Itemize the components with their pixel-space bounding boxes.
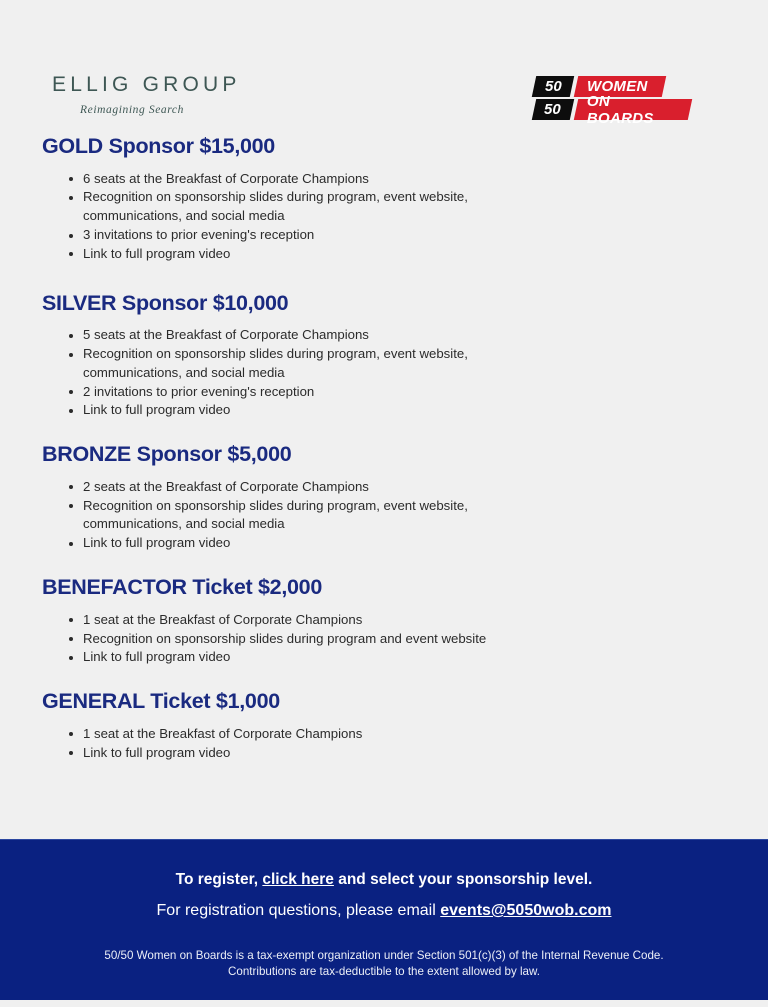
list-item: Recognition on sponsorship slides during… [69, 497, 503, 535]
register-instruction: To register, click here and select your … [60, 870, 708, 890]
wob-badge-50-bottom-label: 50 [544, 101, 561, 118]
tier-silver-heading: SILVER Sponsor $10,000 [42, 292, 728, 316]
tier-gold-benefits: 6 seats at the Breakfast of Corporate Ch… [42, 170, 728, 264]
tier-bronze: BRONZE Sponsor $5,000 2 seats at the Bre… [42, 443, 728, 553]
ellig-group-wordmark: ELLIG GROUP [52, 74, 212, 95]
tier-spacer [42, 673, 728, 690]
ellig-group-tagline: Reimagining Search [52, 104, 212, 116]
wob-label-on-boards-text: ON BOARDS [587, 93, 680, 127]
list-item: Link to full program video [69, 648, 503, 667]
contact-email-link[interactable]: events@5050wob.com [440, 902, 611, 919]
list-item: 1 seat at the Breakfast of Corporate Cha… [69, 611, 503, 630]
tier-benefactor: BENEFACTOR Ticket $2,000 1 seat at the B… [42, 576, 728, 667]
tier-gold: GOLD Sponsor $15,000 6 seats at the Brea… [42, 135, 728, 264]
tier-silver: SILVER Sponsor $10,000 5 seats at the Br… [42, 292, 728, 421]
list-item: 1 seat at the Breakfast of Corporate Cha… [69, 725, 503, 744]
list-item: 2 seats at the Breakfast of Corporate Ch… [69, 478, 503, 497]
tier-spacer [42, 559, 728, 576]
list-item: Recognition on sponsorship slides during… [69, 630, 503, 649]
sponsorship-flyer-page: ELLIG GROUP Reimagining Search 50 WOMEN … [0, 0, 768, 1007]
list-item: Recognition on sponsorship slides during… [69, 188, 503, 226]
wob-badge-50-bottom: 50 [532, 99, 574, 120]
list-item: Link to full program video [69, 534, 503, 553]
tier-general-heading: GENERAL Ticket $1,000 [42, 690, 728, 714]
list-item: 2 invitations to prior evening's recepti… [69, 383, 503, 402]
register-prefix-text: To register, [176, 871, 263, 888]
tier-general: GENERAL Ticket $1,000 1 seat at the Brea… [42, 690, 728, 762]
list-item: 6 seats at the Breakfast of Corporate Ch… [69, 170, 503, 189]
registration-questions-line: For registration questions, please email… [60, 901, 708, 922]
tier-bronze-benefits: 2 seats at the Breakfast of Corporate Ch… [42, 478, 728, 553]
list-item: Link to full program video [69, 744, 503, 763]
tier-general-benefits: 1 seat at the Breakfast of Corporate Cha… [42, 725, 728, 763]
registration-footer-banner: To register, click here and select your … [0, 839, 768, 1000]
click-here-link[interactable]: click here [262, 871, 334, 888]
wob-badge-50-top-label: 50 [545, 78, 562, 95]
list-item: Link to full program video [69, 401, 503, 420]
tier-benefactor-benefits: 1 seat at the Breakfast of Corporate Cha… [42, 611, 728, 667]
list-item: Recognition on sponsorship slides during… [69, 345, 503, 383]
list-item: 5 seats at the Breakfast of Corporate Ch… [69, 326, 503, 345]
tier-spacer [42, 270, 728, 292]
list-item: Link to full program video [69, 245, 503, 264]
tier-benefactor-heading: BENEFACTOR Ticket $2,000 [42, 576, 728, 600]
page-header: ELLIG GROUP Reimagining Search 50 WOMEN … [0, 0, 768, 135]
fifty-fifty-women-on-boards-logo: 50 WOMEN 50 ON BOARDS [530, 76, 690, 122]
ellig-group-logo: ELLIG GROUP Reimagining Search [52, 74, 212, 116]
register-suffix-text: and select your sponsorship level. [334, 871, 592, 888]
questions-prefix-text: For registration questions, please email [157, 902, 441, 919]
sponsorship-tier-list: GOLD Sponsor $15,000 6 seats at the Brea… [0, 135, 768, 762]
wob-logo-row-on-boards: 50 ON BOARDS [530, 99, 690, 120]
tax-exempt-disclaimer: 50/50 Women on Boards is a tax-exempt or… [84, 948, 684, 980]
tier-spacer [42, 426, 728, 443]
wob-badge-50-top: 50 [532, 76, 574, 97]
list-item: 3 invitations to prior evening's recepti… [69, 226, 503, 245]
wob-label-on-boards: ON BOARDS [573, 99, 692, 120]
tier-silver-benefits: 5 seats at the Breakfast of Corporate Ch… [42, 326, 728, 420]
tier-bronze-heading: BRONZE Sponsor $5,000 [42, 443, 728, 467]
tier-gold-heading: GOLD Sponsor $15,000 [42, 135, 728, 159]
